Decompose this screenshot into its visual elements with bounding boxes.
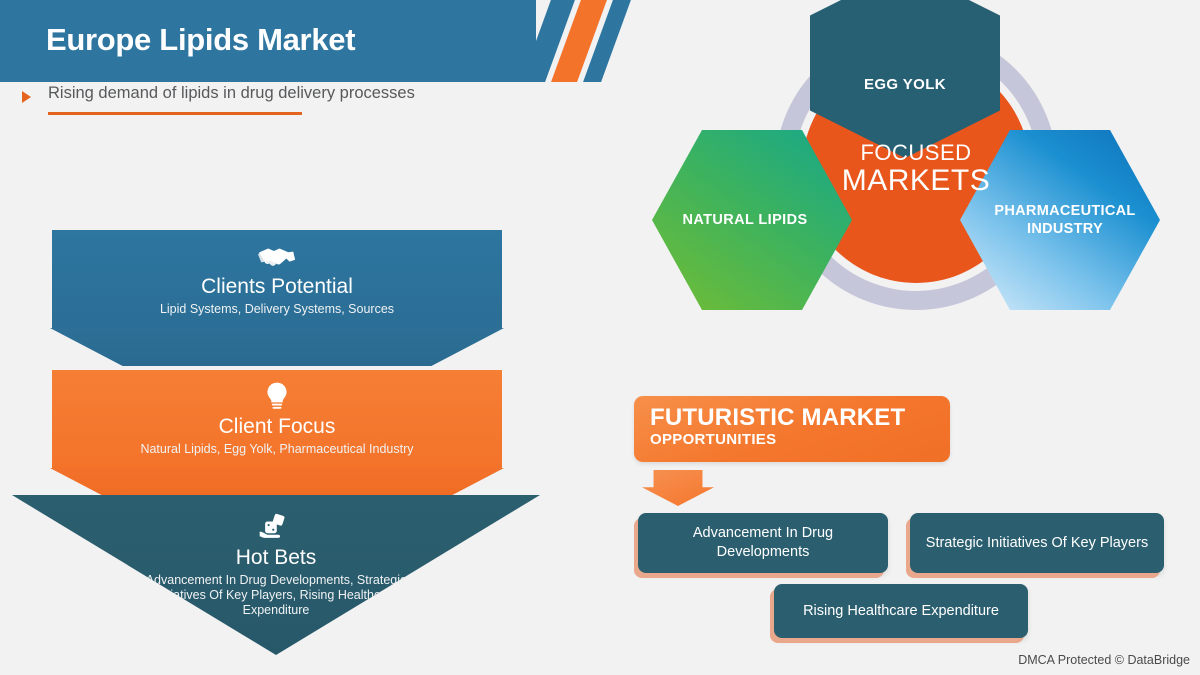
triangle-right-icon — [22, 91, 31, 103]
opportunity-tag-label: Strategic Initiatives Of Key Players — [926, 534, 1148, 553]
lightbulb-icon — [257, 382, 297, 410]
funnel-tier-hot-bets[interactable]: Hot Bets Advancement In Drug Development… — [12, 495, 540, 655]
funnel-tier-clients-potential[interactable]: Clients Potential Lipid Systems, Deliver… — [52, 230, 502, 328]
funnel-tier-title: Client Focus — [219, 414, 336, 440]
funnel-tier-title: Clients Potential — [201, 274, 353, 300]
opportunity-tag-label: Rising Healthcare Expenditure — [803, 602, 999, 621]
arrow-down-icon — [642, 470, 714, 506]
hexagon-label: PHARMACEUTICAL INDUSTRY — [960, 202, 1160, 238]
hexagon-label: EGG YOLK — [864, 76, 946, 93]
page-subtitle: Rising demand of lipids in drug delivery… — [48, 84, 415, 103]
futuristic-banner-line2: OPPORTUNITIES — [650, 431, 950, 449]
opportunity-tag-healthcare-expenditure[interactable]: Rising Healthcare Expenditure — [774, 584, 1028, 638]
funnel-tier-body: Hot Bets Advancement In Drug Development… — [12, 495, 540, 655]
funnel-tier-client-focus[interactable]: Client Focus Natural Lipids, Egg Yolk, P… — [52, 370, 502, 468]
subtitle-underline — [48, 112, 302, 115]
funnel-tier-title: Hot Bets — [236, 545, 317, 571]
futuristic-market-banner[interactable]: FUTURISTIC MARKET OPPORTUNITIES — [634, 396, 950, 462]
hand-dice-icon — [256, 513, 296, 541]
funnel-tier-subtitle: Advancement In Drug Developments, Strate… — [141, 573, 411, 618]
funnel-tier-body: Client Focus Natural Lipids, Egg Yolk, P… — [52, 370, 502, 468]
hexagon-label: NATURAL LIPIDS — [682, 212, 821, 228]
handshake-icon — [257, 242, 297, 270]
page-title: Europe Lipids Market — [46, 22, 355, 58]
futuristic-banner-line1: FUTURISTIC MARKET — [650, 404, 950, 431]
funnel-tier-body: Clients Potential Lipid Systems, Deliver… — [52, 230, 502, 328]
opportunity-tag-advancement[interactable]: Advancement In Drug Developments — [638, 513, 888, 573]
funnel-tier-subtitle: Lipid Systems, Delivery Systems, Sources — [160, 302, 394, 317]
funnel-tier-skirt — [50, 328, 504, 366]
header-band: Europe Lipids Market — [0, 0, 536, 82]
opportunity-tag-strategic-initiatives[interactable]: Strategic Initiatives Of Key Players — [910, 513, 1164, 573]
opportunity-tag-label: Advancement In Drug Developments — [650, 524, 876, 562]
funnel-tier-subtitle: Natural Lipids, Egg Yolk, Pharmaceutical… — [140, 442, 413, 457]
infographic-slide: Europe Lipids Market Rising demand of li… — [0, 0, 1200, 675]
funnel-diagram: Clients Potential Lipid Systems, Deliver… — [0, 215, 560, 655]
dmca-notice: DMCA Protected © DataBridge — [1018, 653, 1190, 667]
subtitle-row: Rising demand of lipids in drug delivery… — [22, 84, 522, 110]
focused-markets-cluster: EGG YOLK NATURAL LIPIDS PHARMACEUTICAL I… — [620, 0, 1190, 370]
